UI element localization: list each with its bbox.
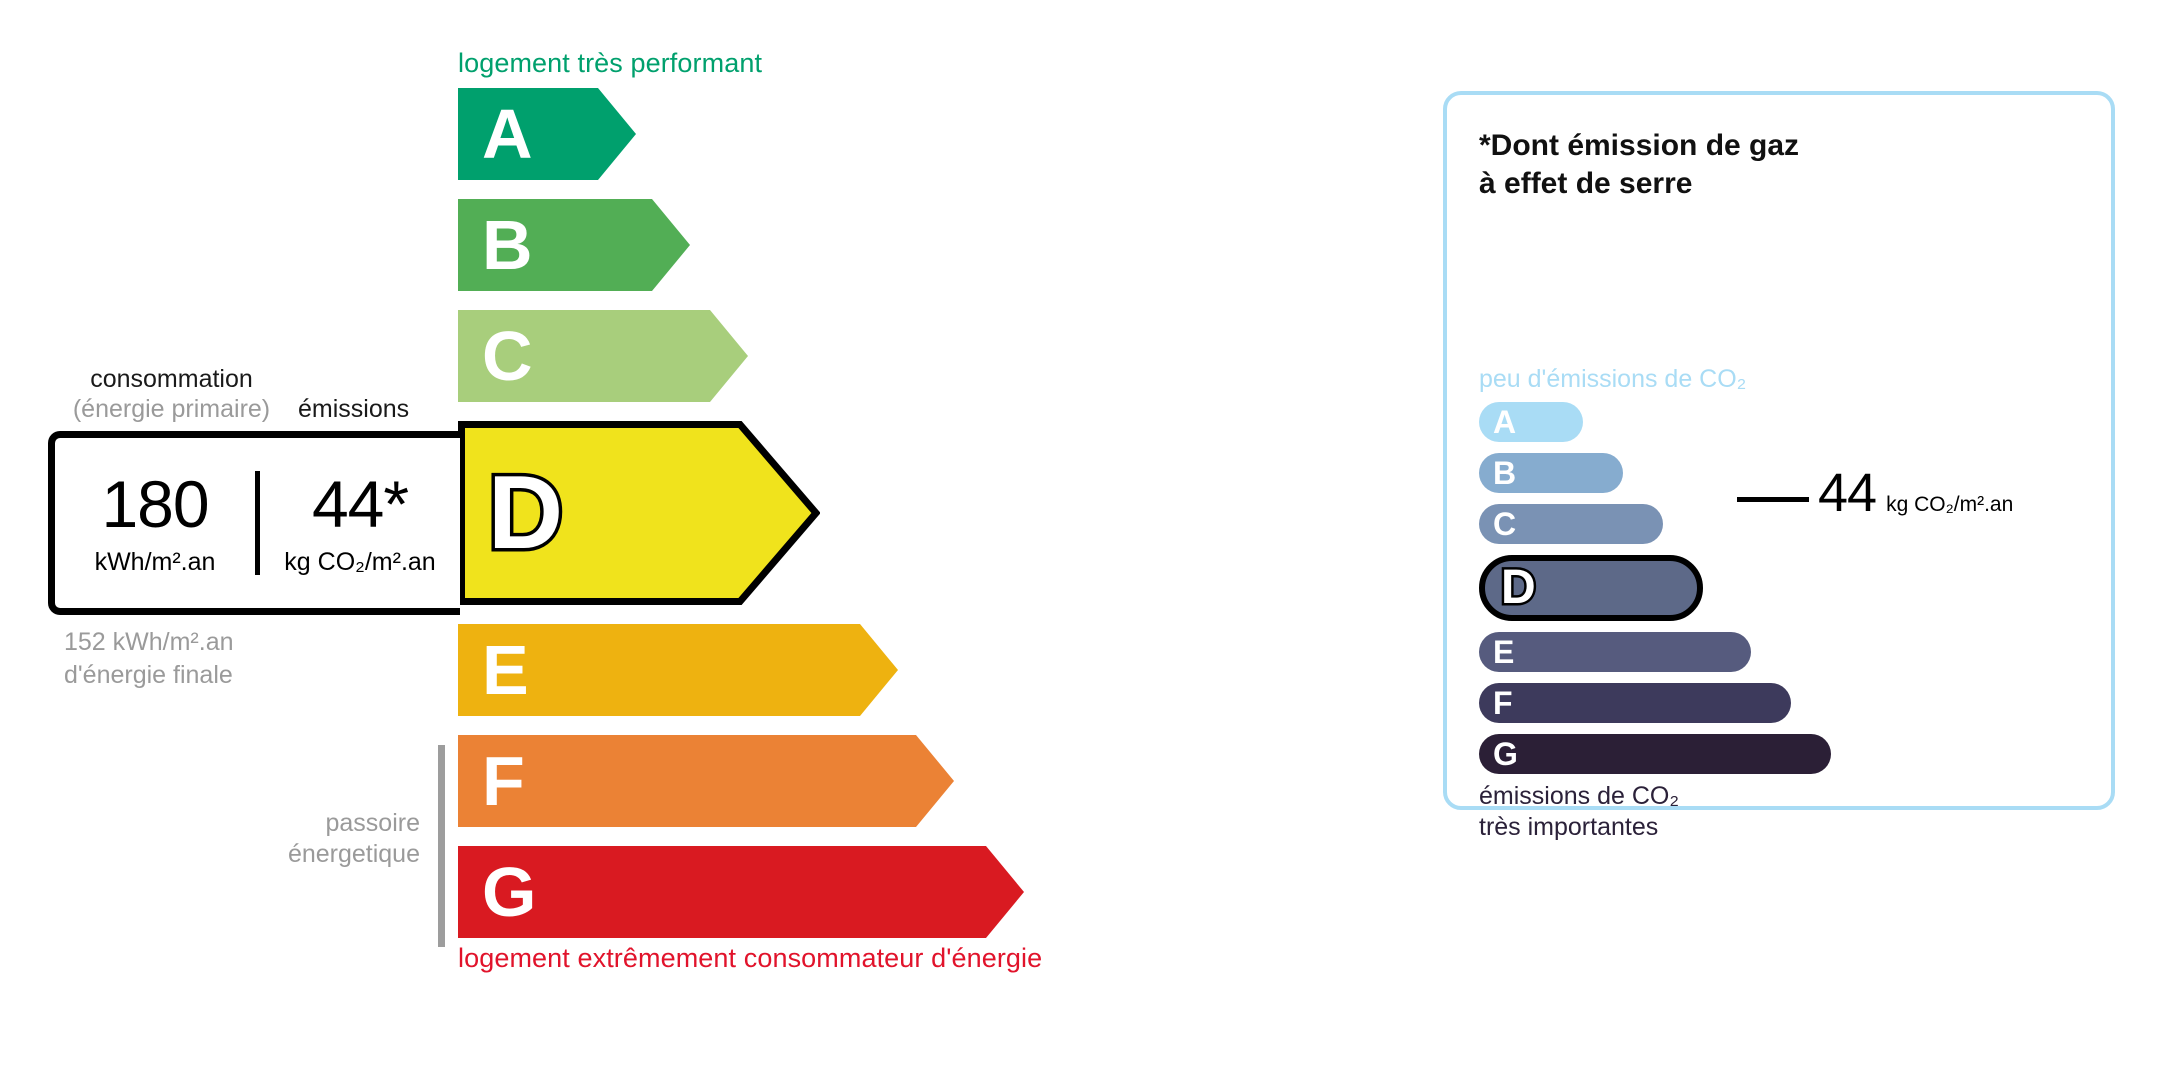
emissions-label: émissions (298, 395, 409, 424)
co2-title-line2: à effet de serre (1479, 165, 1799, 203)
consumption-label: consommation (énergie primaire) (64, 364, 279, 424)
passoire-bracket (438, 745, 445, 947)
consumption-unit: kWh/m².an (55, 550, 255, 575)
co2-title-line1: *Dont émission de gaz (1479, 127, 1799, 165)
consumption-label-sub: (énergie primaire) (64, 394, 279, 424)
co2-bottom-caption: émissions de CO₂ très importantes (1479, 781, 1679, 844)
co2-bar-e (1479, 632, 1751, 672)
energy-arrow-g (458, 846, 1024, 938)
energy-row-b: B (458, 199, 1258, 291)
emission-unit: kg CO₂/m².an (260, 550, 460, 575)
co2-panel-title: *Dont émission de gaz à effet de serre (1479, 127, 1799, 202)
energy-row-g: G (458, 846, 1258, 938)
co2-letter-f: F (1493, 687, 1513, 719)
co2-bottom-caption-line2: très importantes (1479, 812, 1679, 843)
energy-letter-d: D (488, 461, 563, 565)
final-energy-value: 152 kWh/m².an (64, 626, 234, 659)
energy-row-e: E (458, 624, 1258, 716)
passoire-label-line2: énergetique (200, 839, 420, 870)
consumption-label-main: consommation (90, 365, 253, 393)
emission-value: 44* (260, 471, 460, 537)
co2-letter-d: D (1501, 564, 1536, 612)
final-energy-text: d'énergie finale (64, 659, 234, 692)
co2-bottom-caption-line1: émissions de CO₂ (1479, 781, 1679, 812)
co2-callout: 44 kg CO₂/m².an (1818, 462, 2013, 524)
co2-top-caption: peu d'émissions de CO₂ (1479, 365, 1746, 394)
energy-row-c: C (458, 310, 1258, 402)
final-energy-note: 152 kWh/m².an d'énergie finale (64, 626, 234, 691)
dpe-label: logement très performant A B (0, 0, 2169, 1079)
energy-row-f: F (458, 735, 1258, 827)
co2-callout-value: 44 (1818, 462, 1876, 524)
co2-callout-leader-line (1737, 497, 1809, 502)
co2-callout-unit: kg CO₂/m².an (1886, 493, 2013, 517)
energy-letter-b: B (482, 210, 533, 280)
energy-letter-c: C (482, 321, 533, 391)
passoire-label: passoire énergetique (200, 808, 420, 871)
co2-letter-e: E (1493, 636, 1514, 668)
consumption-value-cell: 180 kWh/m².an (55, 471, 260, 575)
energy-letter-g: G (482, 857, 536, 927)
co2-letter-a: A (1493, 406, 1516, 438)
energy-letter-f: F (482, 746, 525, 816)
energy-arrow-scale: A B C (458, 88, 1258, 957)
consumption-value: 180 (55, 471, 255, 537)
co2-letter-c: C (1493, 508, 1516, 540)
energy-top-caption: logement très performant (458, 48, 762, 79)
energy-performance-panel: logement très performant A B (0, 0, 1330, 1079)
energy-letter-a: A (482, 99, 533, 169)
co2-bar-f (1479, 683, 1791, 723)
passoire-label-line1: passoire (200, 808, 420, 839)
co2-letter-g: G (1493, 738, 1518, 770)
value-box: 180 kWh/m².an 44* kg CO₂/m².an (48, 431, 460, 615)
energy-bottom-caption: logement extrêmement consommateur d'éner… (458, 943, 1042, 974)
co2-bar-g (1479, 734, 1831, 774)
energy-letter-e: E (482, 635, 529, 705)
energy-row-d-selected: D (458, 421, 1258, 605)
co2-emissions-panel: *Dont émission de gaz à effet de serre p… (1443, 91, 2115, 810)
energy-arrow-f (458, 735, 954, 827)
co2-letter-b: B (1493, 457, 1516, 489)
energy-row-a: A (458, 88, 1258, 180)
emission-value-cell: 44* kg CO₂/m².an (260, 471, 460, 575)
